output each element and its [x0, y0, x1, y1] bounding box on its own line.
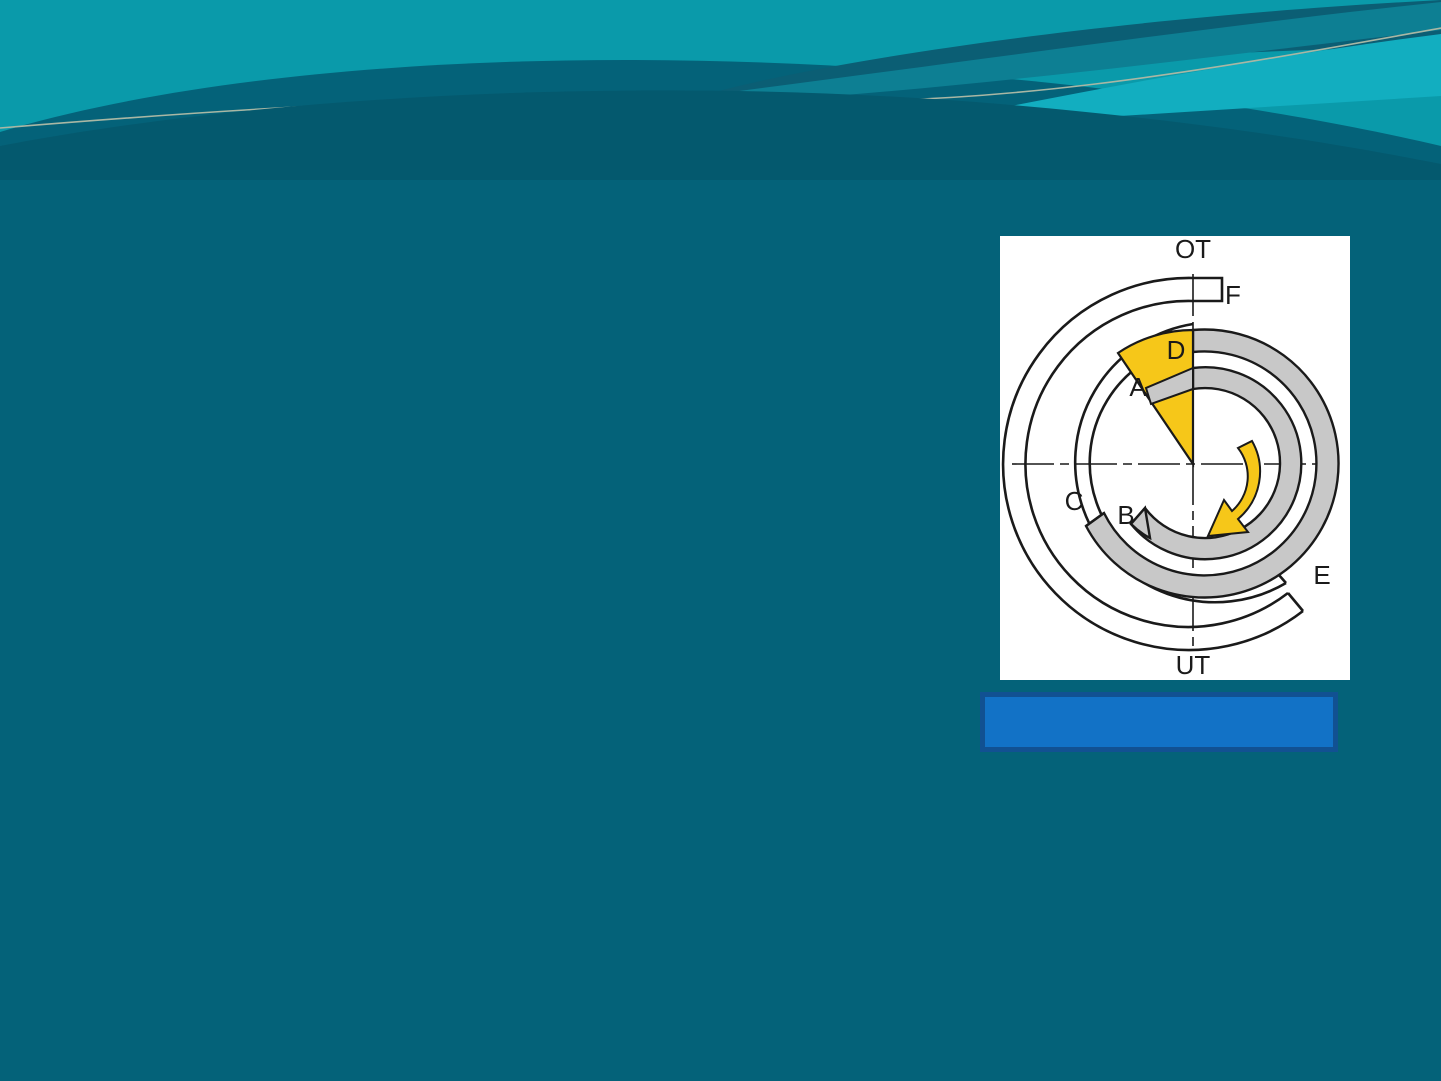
- label-c: C: [1065, 486, 1084, 516]
- presentation-slide: OT F D A C B E UT: [0, 0, 1441, 1081]
- label-f: F: [1225, 280, 1241, 310]
- outer-ring-end-cap-f: [1193, 278, 1222, 301]
- label-ut: UT: [1176, 650, 1211, 680]
- spiral-spring-diagram: OT F D A C B E UT: [1000, 236, 1350, 680]
- caption-text-box-label: [985, 697, 1333, 747]
- wave-highlight-line: [0, 28, 1441, 128]
- caption-text-box[interactable]: [980, 692, 1338, 752]
- label-e: E: [1313, 560, 1330, 590]
- cyan-wave-curl: [880, 34, 1441, 132]
- dark-teal-wave-upper: [700, 0, 1441, 96]
- label-d: D: [1167, 335, 1186, 365]
- slide-body-text[interactable]: [80, 280, 940, 920]
- outer-ring-end-cap-e: [1288, 593, 1303, 611]
- diagram-image[interactable]: OT F D A C B E UT: [1000, 236, 1350, 680]
- label-b: B: [1117, 500, 1134, 530]
- label-ot: OT: [1175, 236, 1211, 264]
- label-a: A: [1129, 372, 1147, 402]
- slide-title[interactable]: [80, 150, 900, 240]
- teal-wave-mid: [700, 2, 1441, 104]
